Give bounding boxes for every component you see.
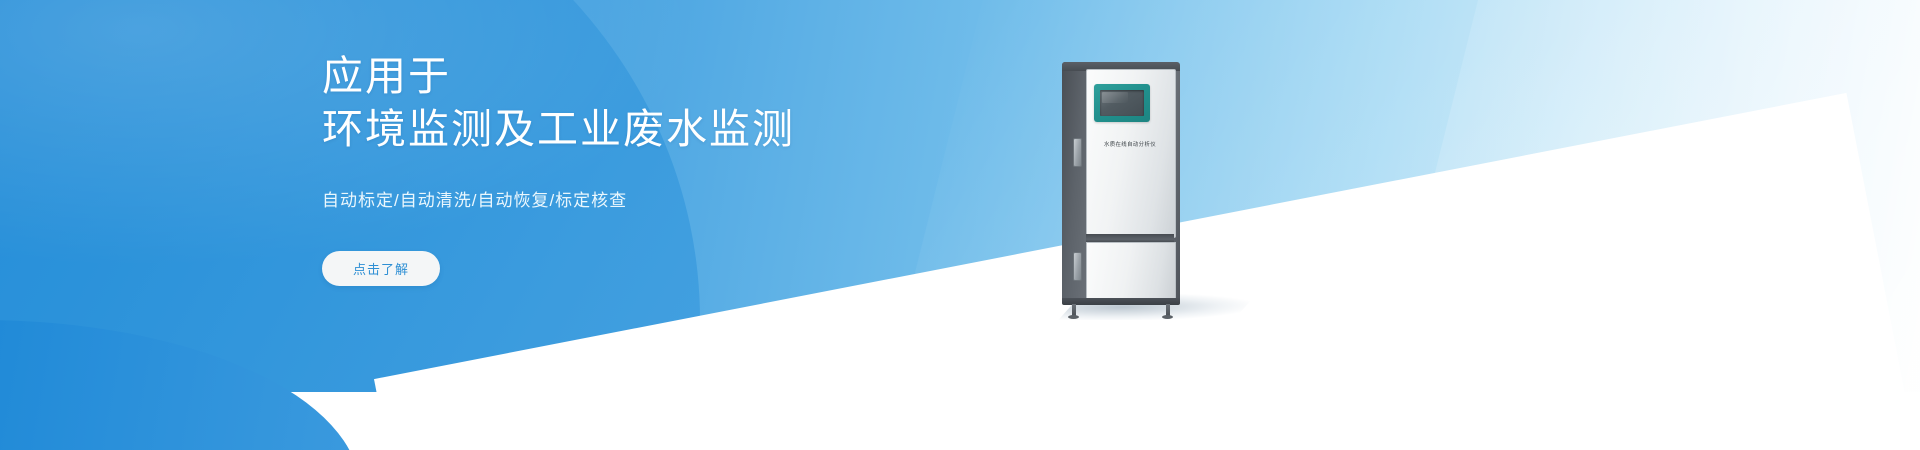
headline-line-2: 环境监测及工业废水监测 xyxy=(322,103,795,156)
page-title: 应用于 环境监测及工业废水监测 xyxy=(322,50,795,156)
hero-banner: 应用于 环境监测及工业废水监测 自动标定/自动清洗/自动恢复/标定核查 点击了解… xyxy=(0,0,1920,450)
cabinet-foot-pad-right xyxy=(1162,315,1173,319)
headline-line-1: 应用于 xyxy=(322,50,795,103)
display-bezel xyxy=(1094,84,1150,122)
display-glare xyxy=(1102,92,1128,103)
banner-subtitle: 自动标定/自动清洗/自动恢复/标定核查 xyxy=(322,186,627,211)
display-screen xyxy=(1100,90,1144,116)
lower-door-handle xyxy=(1073,252,1082,281)
product-model-label: 水质在线自动分析仪 xyxy=(1090,140,1170,148)
learn-more-button[interactable]: 点击了解 xyxy=(322,251,440,286)
cabinet-foot-pad-left xyxy=(1068,315,1079,319)
cabinet-lower-door xyxy=(1086,242,1176,302)
product-image-water-quality-analyzer: 水质在线自动分析仪 xyxy=(1062,62,1182,317)
upper-door-handle xyxy=(1073,138,1082,167)
cabinet-base xyxy=(1062,298,1180,305)
banner-content: 应用于 环境监测及工业废水监测 自动标定/自动清洗/自动恢复/标定核查 点击了解… xyxy=(0,0,1920,450)
